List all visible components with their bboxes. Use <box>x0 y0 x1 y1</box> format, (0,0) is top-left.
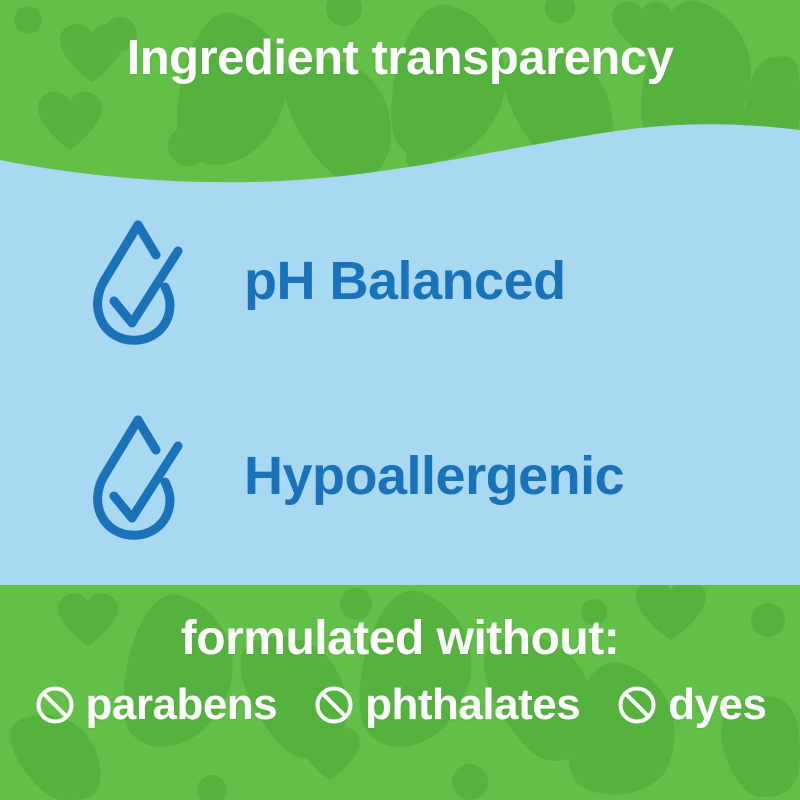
exclusion-item: dyes <box>616 683 766 727</box>
footer: formulated without: parabens phthalates <box>0 585 800 800</box>
droplet-check-icon <box>86 410 194 542</box>
footer-content: formulated without: parabens phthalates <box>0 585 800 800</box>
exclusion-item: phthalates <box>313 683 580 727</box>
feature-list: pH Balanced Hypoallergenic <box>0 196 800 576</box>
prohibition-icon <box>34 684 76 726</box>
feature-label: Hypoallergenic <box>244 449 624 503</box>
exclusion-label: dyes <box>668 683 766 727</box>
droplet-check-icon <box>86 215 194 347</box>
feature-label: pH Balanced <box>244 254 566 308</box>
exclusion-item: parabens <box>34 683 278 727</box>
exclusion-label: phthalates <box>365 683 580 727</box>
feature-row: pH Balanced <box>0 196 800 366</box>
feature-row: Hypoallergenic <box>0 391 800 561</box>
prohibition-icon <box>616 684 658 726</box>
prohibition-icon <box>313 684 355 726</box>
exclusion-list: parabens phthalates dyes <box>0 683 800 727</box>
ingredient-transparency-infographic: Ingredient transparency pH Balanced Hypo… <box>0 0 800 800</box>
exclusion-label: parabens <box>86 683 278 727</box>
footer-heading: formulated without: <box>181 615 619 663</box>
